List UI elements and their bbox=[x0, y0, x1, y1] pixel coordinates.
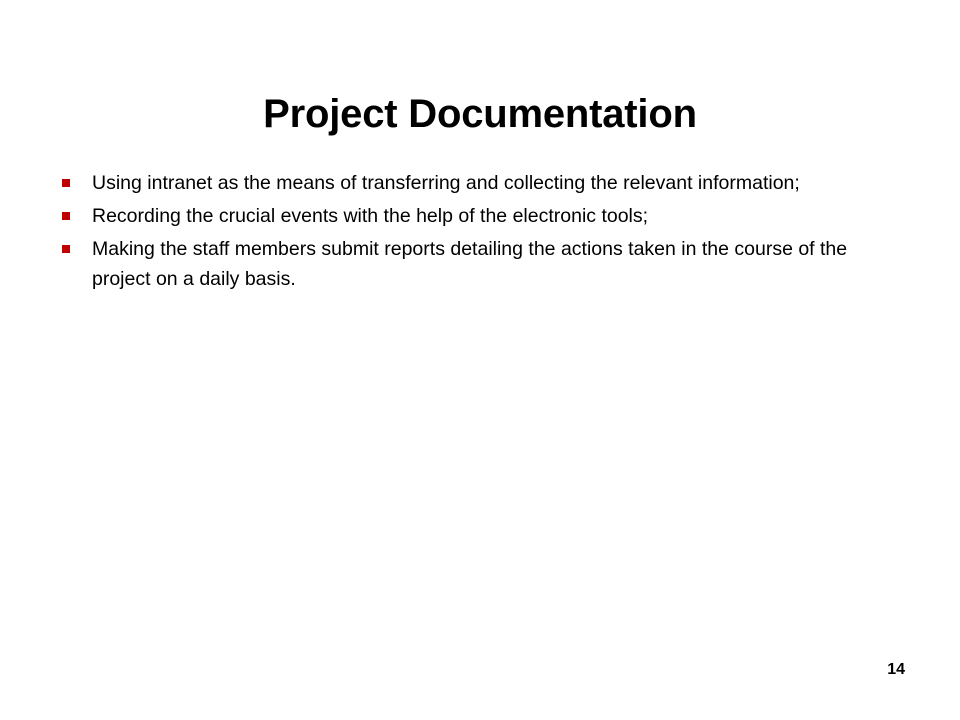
list-item-label: Using intranet as the means of transferr… bbox=[92, 168, 856, 198]
list-item-label: Making the staff members submit reports … bbox=[92, 234, 856, 294]
square-bullet-icon bbox=[62, 245, 70, 253]
list-item: Using intranet as the means of transferr… bbox=[56, 168, 856, 198]
page-title: Project Documentation bbox=[60, 91, 900, 137]
square-bullet-icon bbox=[62, 212, 70, 220]
bullet-list: Using intranet as the means of transferr… bbox=[56, 168, 856, 297]
list-item: Making the staff members submit reports … bbox=[56, 234, 856, 294]
list-item-label: Recording the crucial events with the he… bbox=[92, 201, 856, 231]
list-item: Recording the crucial events with the he… bbox=[56, 201, 856, 231]
presentation-slide: Project Documentation Using intranet as … bbox=[0, 0, 960, 720]
square-bullet-icon bbox=[62, 179, 70, 187]
page-number: 14 bbox=[887, 660, 905, 680]
